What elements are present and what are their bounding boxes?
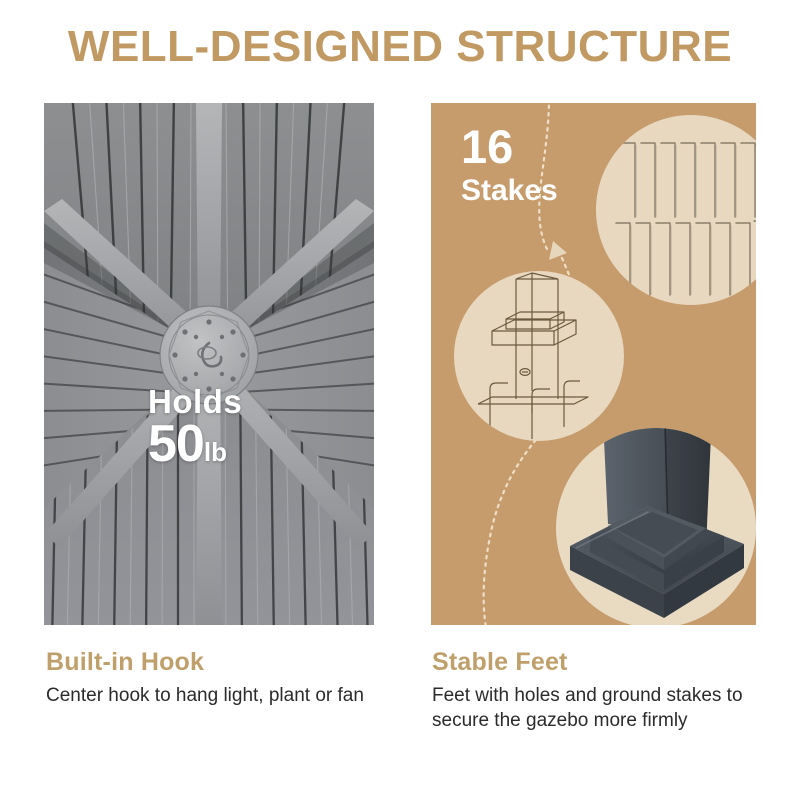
- caption-stable-feet: Stable Feet Feet with holes and ground s…: [432, 648, 762, 734]
- stable-foot-illustration: [556, 428, 756, 625]
- gazebo-roof-photo: [44, 103, 374, 625]
- stakes-count-value: 16: [461, 123, 558, 170]
- stakes-count-label: Stakes: [461, 176, 558, 206]
- caption-heading: Stable Feet: [432, 648, 762, 677]
- post-foot-photo: [556, 428, 756, 625]
- infographic-page: WELL-DESIGNED STRUCTURE: [0, 0, 800, 800]
- post-base-diagram: [454, 271, 624, 441]
- left-image-panel: Holds 50 lb: [44, 103, 374, 625]
- page-title: WELL-DESIGNED STRUCTURE: [0, 22, 800, 72]
- caption-heading: Built-in Hook: [46, 648, 396, 677]
- roof-illustration: [44, 103, 374, 625]
- caption-body: Center hook to hang light, plant or fan: [46, 683, 396, 708]
- center-hook-hub: [160, 306, 258, 404]
- post-base-line-drawing: [454, 271, 624, 441]
- right-image-panel: 16 Stakes: [431, 103, 756, 625]
- caption-body: Feet with holes and ground stakes to sec…: [432, 683, 762, 734]
- arrowhead-to-stakes: [549, 241, 567, 260]
- caption-built-in-hook: Built-in Hook Center hook to hang light,…: [46, 648, 396, 708]
- stakes-count-callout: 16 Stakes: [461, 123, 558, 206]
